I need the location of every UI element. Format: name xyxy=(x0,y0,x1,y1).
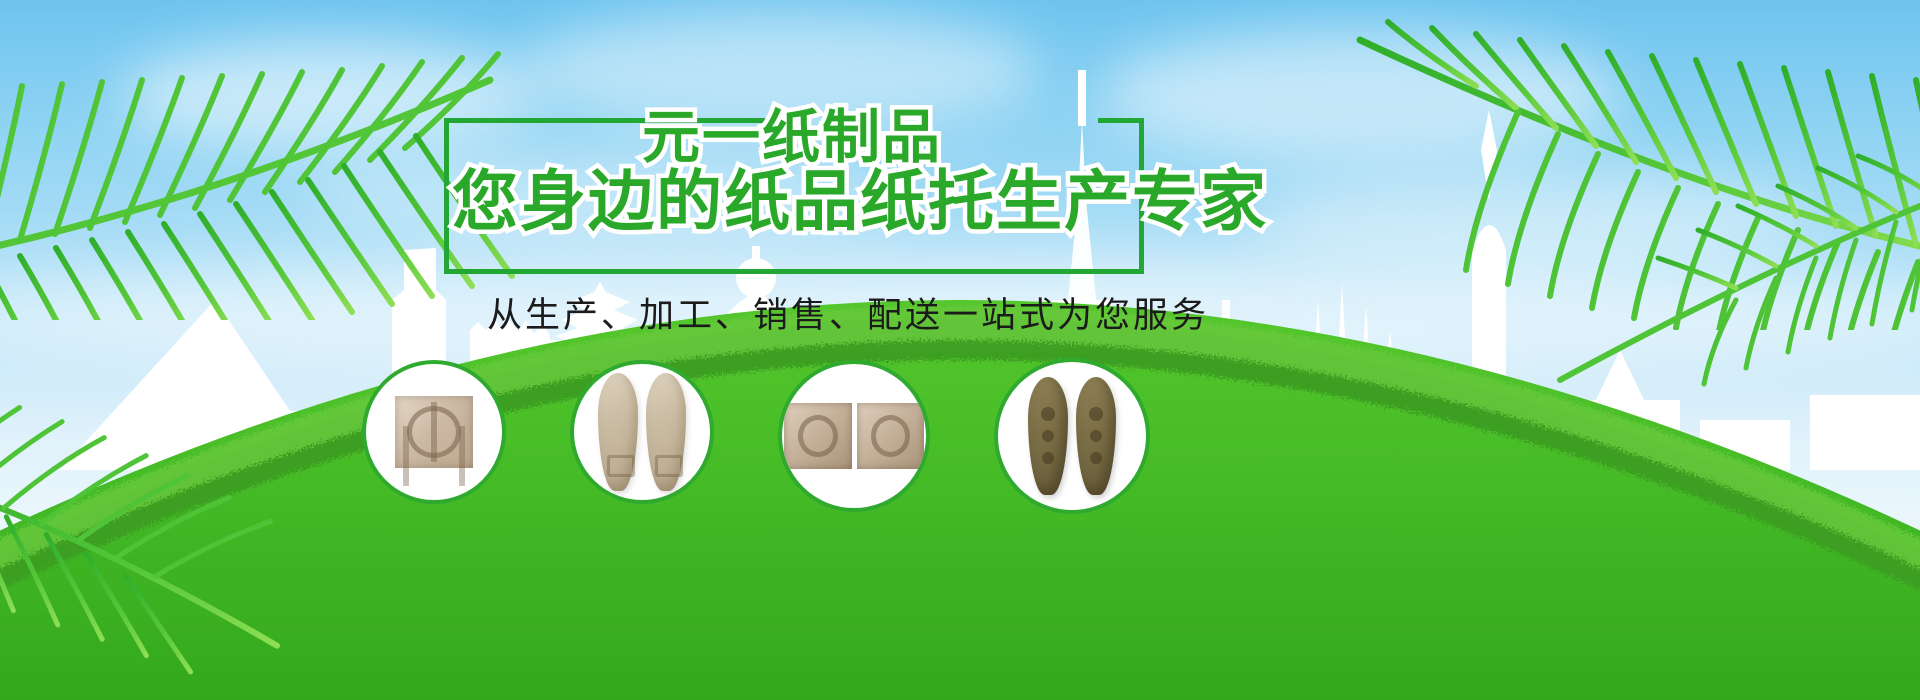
product-circle-molded-pulp-tray-pair[interactable] xyxy=(778,360,930,512)
product-image-molded-pulp-tray xyxy=(366,364,502,500)
headline-text: 您身边的纸品纸托生产专家 xyxy=(452,148,1268,244)
shoe-tree-dark-right xyxy=(1076,377,1116,495)
pulp-tray-shape xyxy=(395,396,473,468)
tagline-text: 从生产、加工、销售、配送一站式为您服务 xyxy=(487,287,1209,338)
pulp-tray-half-left xyxy=(784,403,852,469)
frame-top-right-rule xyxy=(1098,118,1144,123)
product-image-paper-shoe-tree-dark xyxy=(998,362,1146,510)
product-image-molded-pulp-tray-pair xyxy=(782,364,926,508)
shoe-tree-pair-shape xyxy=(594,373,690,491)
shoe-tree-right xyxy=(646,373,686,491)
product-circle-paper-shoe-tree-dark[interactable] xyxy=(994,358,1150,514)
frame-left-border xyxy=(444,118,449,274)
shoe-tree-dark-left xyxy=(1028,377,1068,495)
shoe-tree-pair-dark-shape xyxy=(1024,377,1120,495)
promo-banner: 元一纸制品 您身边的纸品纸托生产专家 从生产、加工、销售、配送一站式为您服务 xyxy=(0,0,1920,700)
product-circle-paper-shoe-tree-light[interactable] xyxy=(570,360,714,504)
headline-frame: 元一纸制品 您身边的纸品纸托生产专家 xyxy=(444,96,1144,274)
product-circle-molded-pulp-tray[interactable] xyxy=(362,360,506,504)
pulp-tray-pair-shape xyxy=(784,403,924,469)
frame-bottom-border xyxy=(444,269,1144,274)
product-image-paper-shoe-tree-light xyxy=(574,364,710,500)
pulp-tray-half-right xyxy=(857,403,925,469)
shoe-tree-left xyxy=(598,373,638,491)
